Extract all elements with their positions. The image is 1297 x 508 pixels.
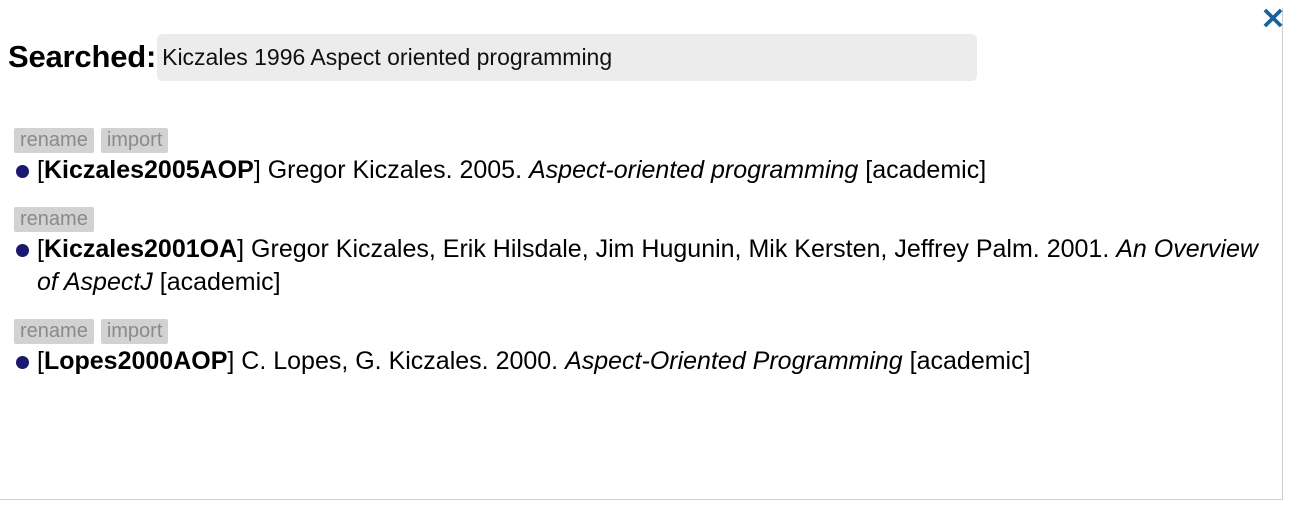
bracket-open: [ bbox=[37, 235, 44, 263]
result-actions: rename import bbox=[0, 128, 1283, 152]
close-x-icon bbox=[1262, 7, 1284, 29]
searched-query-value: Kiczales 1996 Aspect oriented programmin… bbox=[157, 34, 977, 81]
bullet-icon bbox=[16, 165, 29, 178]
searched-label: Searched: bbox=[8, 40, 156, 74]
citation-year: 2001. bbox=[1047, 235, 1117, 263]
rename-button[interactable]: rename bbox=[14, 207, 94, 232]
result-citation: [Lopes2000AOP] C. Lopes, G. Kiczales. 20… bbox=[37, 345, 1031, 378]
search-results-panel: Searched: Kiczales 1996 Aspect oriented … bbox=[0, 0, 1297, 508]
citation-title: Aspect-oriented programming bbox=[529, 156, 858, 184]
citation-tag: [academic] bbox=[903, 347, 1031, 375]
citation-tag: [academic] bbox=[153, 268, 281, 296]
rename-button[interactable]: rename bbox=[14, 319, 94, 344]
result-line: [Lopes2000AOP] C. Lopes, G. Kiczales. 20… bbox=[0, 345, 1283, 378]
citation-year: 2000. bbox=[496, 347, 566, 375]
result-citation: [Kiczales2005AOP] Gregor Kiczales. 2005.… bbox=[37, 154, 986, 187]
citation-authors: Gregor Kiczales, Erik Hilsdale, Jim Hugu… bbox=[251, 235, 1047, 263]
bullet-icon bbox=[16, 356, 29, 369]
citation-authors: C. Lopes, G. Kiczales. bbox=[241, 347, 495, 375]
citation-year: 2005. bbox=[459, 156, 529, 184]
result-actions: rename import bbox=[0, 319, 1283, 343]
import-button[interactable]: import bbox=[101, 128, 169, 153]
results-list: rename import [Kiczales2005AOP] Gregor K… bbox=[0, 128, 1283, 398]
searched-row: Searched: Kiczales 1996 Aspect oriented … bbox=[8, 38, 977, 76]
result-line: [Kiczales2005AOP] Gregor Kiczales. 2005.… bbox=[0, 154, 1283, 187]
result-entry: rename import [Lopes2000AOP] C. Lopes, G… bbox=[0, 319, 1283, 378]
result-line: [Kiczales2001OA] Gregor Kiczales, Erik H… bbox=[0, 233, 1283, 299]
rename-button[interactable]: rename bbox=[14, 128, 94, 153]
result-entry: rename [Kiczales2001OA] Gregor Kiczales,… bbox=[0, 207, 1283, 299]
bracket-open: [ bbox=[37, 156, 44, 184]
result-citation: [Kiczales2001OA] Gregor Kiczales, Erik H… bbox=[37, 233, 1282, 299]
bracket-close: ] bbox=[227, 347, 241, 375]
import-button[interactable]: import bbox=[101, 319, 169, 344]
bullet-icon bbox=[16, 244, 29, 257]
result-actions: rename bbox=[0, 207, 1283, 231]
bracket-close: ] bbox=[237, 235, 251, 263]
close-button[interactable] bbox=[1258, 3, 1288, 33]
bracket-open: [ bbox=[37, 347, 44, 375]
result-entry: rename import [Kiczales2005AOP] Gregor K… bbox=[0, 128, 1283, 187]
citation-key: Lopes2000AOP bbox=[44, 347, 227, 375]
citation-key: Kiczales2005AOP bbox=[44, 156, 254, 184]
citation-tag: [academic] bbox=[858, 156, 986, 184]
citation-authors: Gregor Kiczales. bbox=[268, 156, 460, 184]
citation-key: Kiczales2001OA bbox=[44, 235, 237, 263]
bracket-close: ] bbox=[254, 156, 268, 184]
citation-title: Aspect-Oriented Programming bbox=[565, 347, 903, 375]
